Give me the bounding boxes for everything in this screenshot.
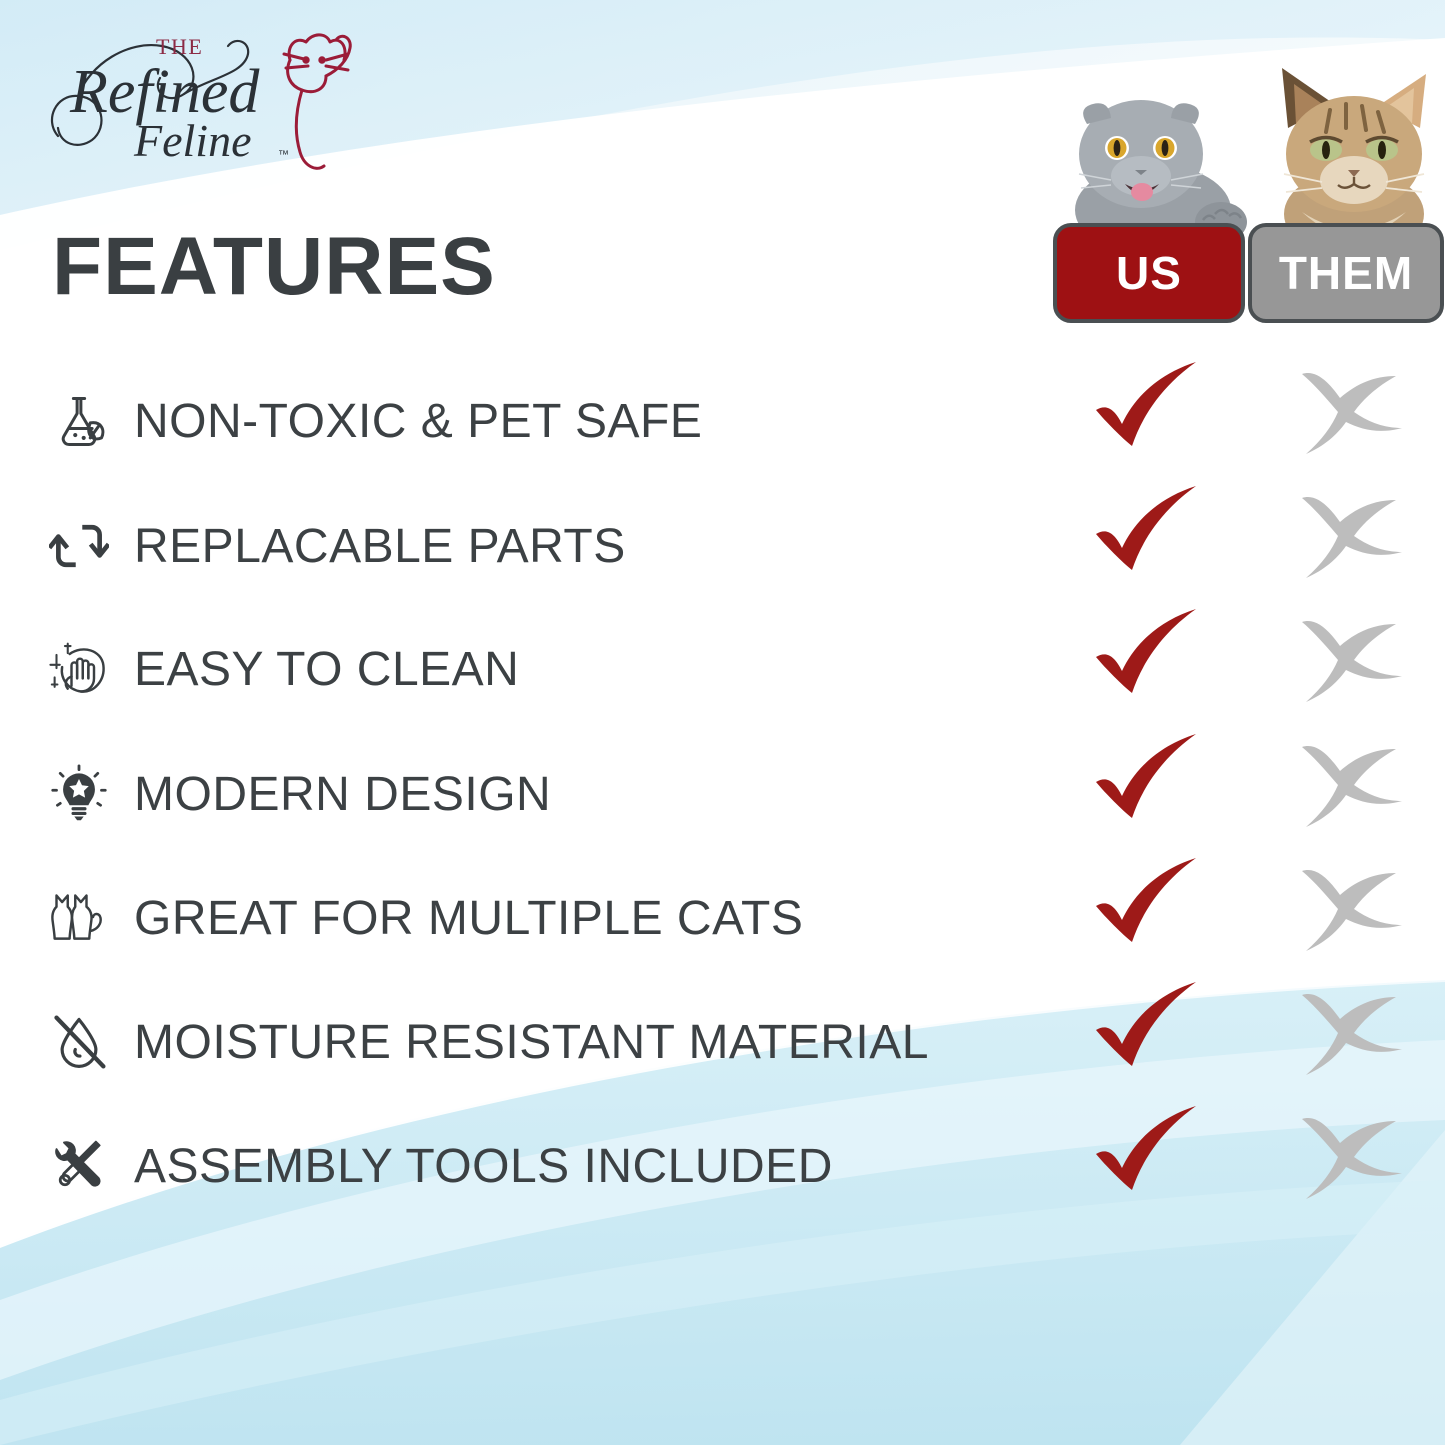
cross-mark-icon	[1292, 1109, 1412, 1205]
feature-row: MOISTURE RESISTANT MATERIAL	[40, 993, 1420, 1091]
logo-feline-text: Feline	[133, 115, 252, 166]
feature-label: ASSEMBLY TOOLS INCLUDED	[134, 1139, 833, 1194]
feature-comparison-infographic: THE Refined Feline ™ FEATURES	[0, 0, 1445, 1445]
water-drop-slash-icon	[40, 1005, 118, 1079]
cross-mark-icon	[1292, 861, 1412, 957]
check-mark-icon	[1088, 978, 1208, 1074]
feature-row: EASY TO CLEAN	[40, 620, 1420, 718]
cross-mark-icon	[1292, 364, 1412, 460]
wrench-screwdriver-icon	[40, 1129, 118, 1203]
check-mark-icon	[1088, 854, 1208, 950]
feature-label: MODERN DESIGN	[134, 767, 551, 822]
recycle-arrows-icon	[40, 509, 118, 583]
column-header-them[interactable]: THEM	[1248, 223, 1444, 323]
feature-label: EASY TO CLEAN	[134, 642, 519, 697]
check-mark-icon	[1088, 482, 1208, 578]
feature-row: NON-TOXIC & PET SAFE	[40, 372, 1420, 470]
cleaning-hand-icon	[40, 632, 118, 706]
lightbulb-star-icon	[40, 757, 118, 831]
flask-leaf-icon	[40, 384, 118, 458]
check-mark-icon	[1088, 358, 1208, 454]
feature-row: GREAT FOR MULTIPLE CATS	[40, 869, 1420, 967]
feature-label: REPLACABLE PARTS	[134, 519, 626, 574]
column-header-us[interactable]: US	[1053, 223, 1245, 323]
us-cat-photo	[1053, 80, 1268, 245]
brand-logo: THE Refined Feline ™	[34, 16, 354, 176]
feature-label: GREAT FOR MULTIPLE CATS	[134, 891, 803, 946]
check-mark-icon	[1088, 1102, 1208, 1198]
refined-feline-logo-artwork: THE Refined Feline ™	[34, 16, 354, 176]
feature-row: ASSEMBLY TOOLS INCLUDED	[40, 1117, 1420, 1215]
cross-mark-icon	[1292, 985, 1412, 1081]
page-title: FEATURES	[52, 226, 496, 308]
cross-mark-icon	[1292, 488, 1412, 584]
feature-row: REPLACABLE PARTS	[40, 497, 1420, 595]
cross-mark-icon	[1292, 612, 1412, 708]
logo-cat-icon	[284, 35, 350, 168]
check-mark-icon	[1088, 730, 1208, 826]
them-cat-photo	[1262, 62, 1442, 247]
logo-the-text: THE	[156, 34, 203, 59]
cross-mark-icon	[1292, 737, 1412, 833]
two-cats-icon	[40, 881, 118, 955]
logo-trademark-text: ™	[278, 149, 289, 161]
feature-row: MODERN DESIGN	[40, 745, 1420, 843]
feature-label: NON-TOXIC & PET SAFE	[134, 394, 702, 449]
check-mark-icon	[1088, 605, 1208, 701]
feature-label: MOISTURE RESISTANT MATERIAL	[134, 1015, 929, 1070]
